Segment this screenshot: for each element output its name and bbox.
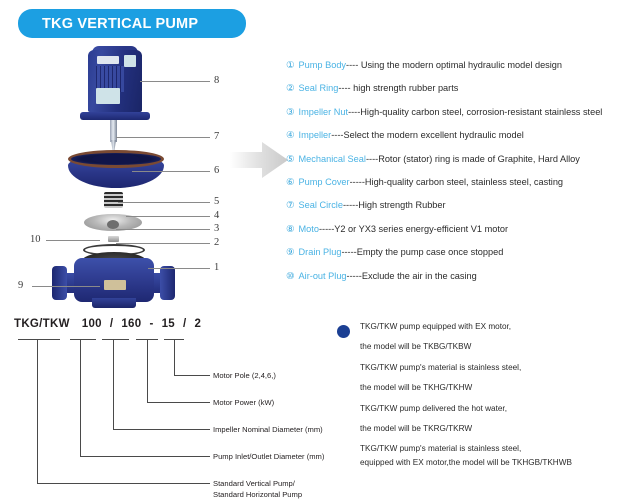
code-underline-inlet — [70, 339, 96, 340]
legend-item-1: ① Pump Body ---- Using the modern optima… — [286, 60, 617, 71]
callout-number-4: 4 — [214, 210, 219, 221]
model-variant-notes: TKG/TKW pump equipped with EX motor, the… — [337, 322, 617, 478]
legend-item-2: ② Seal Ring ---- high strength rubber pa… — [286, 83, 617, 94]
legend-part-desc-3: ----High-quality carbon steel, corrosion… — [348, 107, 602, 117]
code-underline-series — [18, 339, 60, 340]
callout-line-9 — [32, 286, 100, 287]
code-label-motor-power: Motor Power (kW) — [213, 397, 274, 408]
note-line-4: the model will be TKHG/TKHW — [337, 383, 617, 393]
inlet-flange — [52, 266, 67, 300]
legend-part-name-5: Mechanical Seal — [299, 154, 366, 164]
callout-number-6: 6 — [214, 165, 219, 176]
leader-v-standard — [37, 339, 38, 483]
legend-part-name-3: Impeller Nut — [299, 107, 349, 117]
legend-circle-number-6: ⑥ — [286, 177, 295, 188]
code-separator-3: / — [183, 318, 187, 330]
callout-line-4 — [126, 216, 210, 217]
callout-line-3 — [116, 229, 210, 230]
motor-flange-foot — [80, 112, 150, 120]
legend-item-7: ⑦ Seal Circle -----High strength Rubber — [286, 200, 617, 211]
pump-base-foot — [92, 298, 136, 308]
legend-part-desc-7: -----High strength Rubber — [343, 200, 446, 210]
legend-circle-number-2: ② — [286, 83, 295, 94]
parts-legend: ① Pump Body ---- Using the modern optima… — [286, 60, 617, 294]
callout-line-7 — [116, 137, 210, 138]
note-line-2: the model will be TKBG/TKBW — [337, 342, 617, 352]
callout-number-10: 10 — [30, 234, 41, 245]
code-label-standard-pump-line1: Standard Vertical Pump/ — [213, 479, 295, 488]
motor-terminal-box — [124, 55, 136, 67]
page-title-banner: TKG VERTICAL PUMP — [18, 9, 246, 38]
motor-junction-plate — [96, 88, 120, 104]
code-separator-2: - — [149, 318, 153, 330]
callout-line-1 — [148, 268, 210, 269]
note-line-5: TKG/TKW pump delivered the hot water, — [337, 404, 617, 414]
legend-item-9: ⑨ Drain Plug -----Empty the pump case on… — [286, 247, 617, 258]
legend-part-desc-10: -----Exclude the air in the casing — [347, 271, 477, 281]
pump-body-nameplate — [104, 280, 126, 290]
code-segment-pole: 2 — [195, 318, 202, 330]
code-label-standard-pump-line2: Standard Horizontal Pump — [213, 490, 302, 499]
callout-number-5: 5 — [214, 196, 219, 207]
mechanical-seal — [104, 192, 123, 208]
callout-line-10 — [46, 240, 100, 241]
bullet-dot-icon — [337, 325, 350, 338]
callout-number-1: 1 — [214, 262, 219, 273]
legend-circle-number-8: ⑧ — [286, 224, 295, 235]
legend-part-name-9: Drain Plug — [299, 247, 342, 257]
callout-line-8 — [140, 81, 210, 82]
callout-line-2 — [116, 243, 210, 244]
legend-part-desc-4: ----Select the modern excellent hydrauli… — [331, 130, 524, 140]
legend-item-10: ⑩ Air-out Plug -----Exclude the air in t… — [286, 271, 617, 282]
note-line-3: TKG/TKW pump's material is stainless ste… — [337, 363, 617, 373]
callout-line-6 — [132, 171, 210, 172]
pump-exploded-diagram: 8 7 6 5 4 3 2 1 10 9 — [0, 44, 240, 306]
legend-part-desc-8: -----Y2 or YX3 series energy-efficient V… — [319, 224, 508, 234]
impeller-hub — [107, 220, 119, 229]
leader-h-inlet — [80, 456, 210, 457]
code-segment-inlet: 100 — [82, 318, 102, 330]
leader-v-pole — [174, 339, 175, 375]
legend-part-name-6: Pump Cover — [299, 177, 350, 187]
legend-part-desc-9: -----Empty the pump case once stopped — [341, 247, 503, 257]
impeller-nut — [108, 236, 119, 242]
callout-number-3: 3 — [214, 223, 219, 234]
code-label-standard-pump: Standard Vertical Pump/ Standard Horizon… — [213, 478, 302, 500]
legend-item-4: ④ Impeller ----Select the modern excelle… — [286, 130, 617, 141]
page-title: TKG VERTICAL PUMP — [18, 16, 198, 32]
leader-v-power — [147, 339, 148, 402]
legend-item-6: ⑥ Pump Cover -----High-quality carbon st… — [286, 177, 617, 188]
code-segment-power: 15 — [162, 318, 175, 330]
leader-v-impeller — [113, 339, 114, 429]
legend-circle-number-1: ① — [286, 60, 295, 71]
leader-h-power — [147, 402, 210, 403]
pump-cover-bore — [92, 154, 140, 164]
legend-part-name-4: Impeller — [299, 130, 332, 140]
motor-nameplate — [97, 56, 119, 64]
legend-item-5: ⑤ Mechanical Seal ----Rotor (stator) rin… — [286, 154, 617, 165]
legend-part-desc-1: ---- Using the modern optimal hydraulic … — [346, 60, 562, 70]
callout-number-9: 9 — [18, 280, 23, 291]
legend-part-name-2: Seal Ring — [299, 83, 339, 93]
leader-h-pole — [174, 375, 210, 376]
callout-line-5 — [118, 202, 210, 203]
callout-number-8: 8 — [214, 75, 219, 86]
code-label-motor-pole: Motor Pole (2,4,6,) — [213, 370, 276, 381]
legend-item-8: ⑧ Moto -----Y2 or YX3 series energy-effi… — [286, 224, 617, 235]
leader-h-standard — [37, 483, 210, 484]
code-segment-series: TKG/TKW — [14, 318, 70, 330]
code-segment-impeller: 160 — [121, 318, 141, 330]
code-separator-1: / — [110, 318, 114, 330]
pump-shaft — [110, 120, 117, 142]
model-code-breakdown: TKG/TKW 100 / 160 - 15 / 2 Motor Pole (2… — [0, 312, 330, 500]
legend-circle-number-4: ④ — [286, 130, 295, 141]
code-label-inlet-diameter: Pump Inlet/Outlet Diameter (mm) — [213, 451, 324, 462]
note-line-7: TKG/TKW pump's material is stainless ste… — [337, 444, 617, 454]
note-line-8: equipped with EX motor,the model will be… — [337, 458, 617, 468]
outlet-flange — [160, 266, 175, 300]
code-underline-impeller — [102, 339, 129, 340]
code-label-impeller-diameter: Impeller Nominal Diameter (mm) — [213, 424, 323, 435]
note-line-6: the model will be TKRG/TKRW — [337, 424, 617, 434]
leader-h-impeller — [113, 429, 210, 430]
legend-part-name-1: Pump Body — [299, 60, 347, 70]
legend-circle-number-9: ⑨ — [286, 247, 295, 258]
legend-part-name-8: Moto — [299, 224, 319, 234]
model-code-row: TKG/TKW 100 / 160 - 15 / 2 — [14, 318, 201, 330]
legend-part-name-7: Seal Circle — [299, 200, 343, 210]
legend-circle-number-7: ⑦ — [286, 200, 295, 211]
callout-number-7: 7 — [214, 131, 219, 142]
callout-number-2: 2 — [214, 237, 219, 248]
note-line-1: TKG/TKW pump equipped with EX motor, — [337, 322, 617, 332]
leader-v-inlet — [80, 339, 81, 456]
legend-part-desc-2: ---- high strength rubber parts — [338, 83, 458, 93]
legend-item-3: ③ Impeller Nut ----High-quality carbon s… — [286, 107, 617, 118]
legend-part-desc-5: ----Rotor (stator) ring is made of Graph… — [366, 154, 580, 164]
legend-part-name-10: Air-out Plug — [299, 271, 347, 281]
legend-circle-number-5: ⑤ — [286, 154, 295, 165]
legend-part-desc-6: -----High-quality carbon steel, stainles… — [350, 177, 563, 187]
legend-circle-number-10: ⑩ — [286, 271, 295, 282]
legend-circle-number-3: ③ — [286, 107, 295, 118]
right-arrow-icon — [230, 140, 288, 180]
